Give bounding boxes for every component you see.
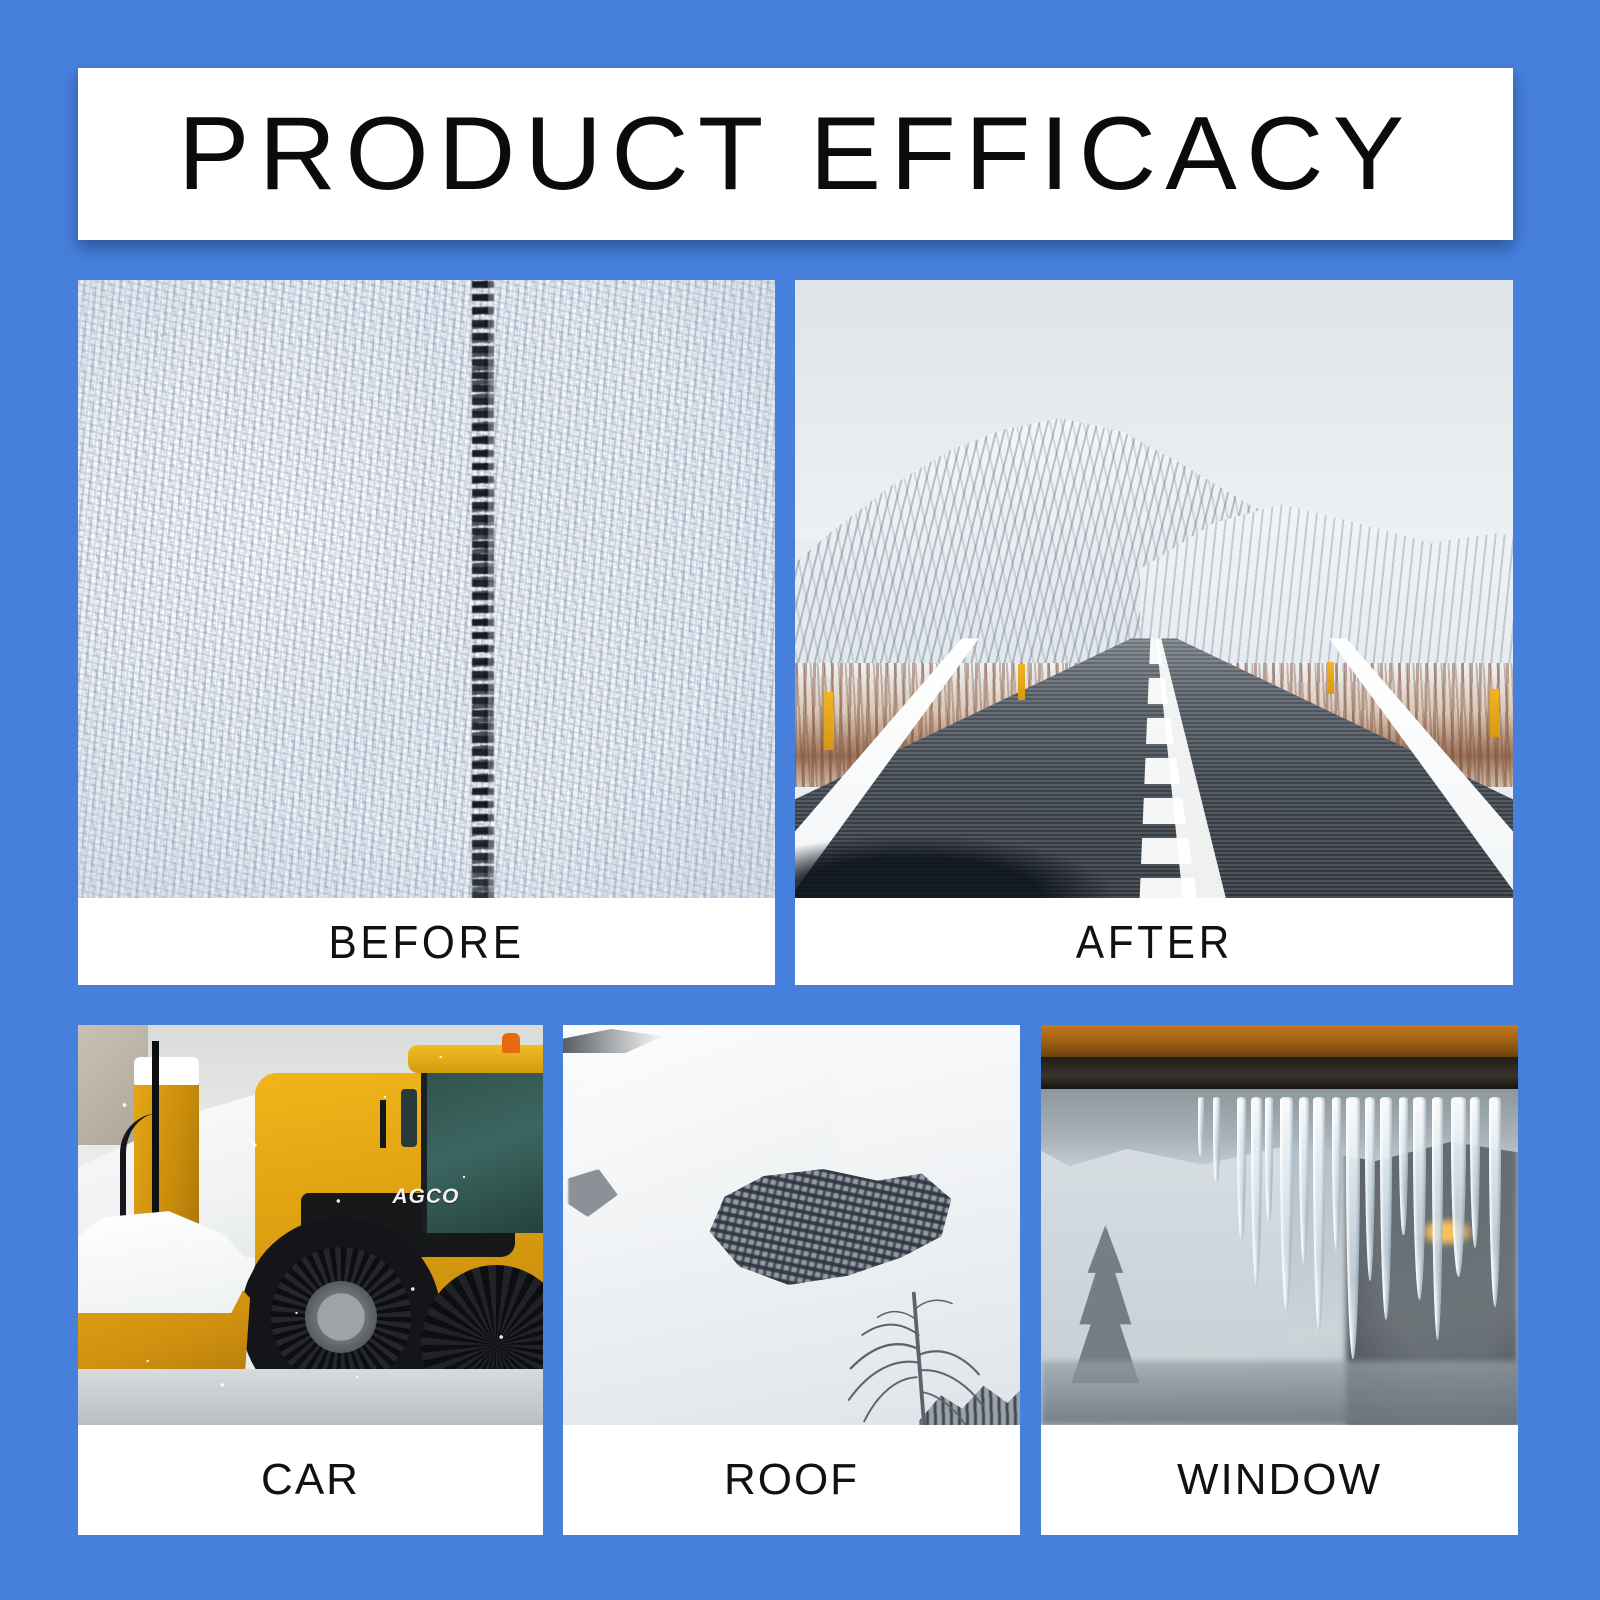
frosted-windshield-photo: Close-up of a car windshield completely … (78, 280, 775, 898)
application-card-car: AGCO Yellow AGCO tractor fitted with a s… (78, 1025, 543, 1535)
title-banner: PRODUCT EFFICACY (78, 68, 1513, 240)
window-wood-trim (1041, 1025, 1518, 1057)
foreground-shadow (795, 836, 1111, 898)
icicle-group (1041, 1097, 1518, 1425)
caption-label: CAR (261, 1458, 360, 1502)
card-caption-car: CAR (78, 1425, 543, 1535)
clear-snowy-road-photo: Clear wet asphalt road with white centre… (795, 280, 1513, 898)
yellow-marker-post (1327, 662, 1334, 694)
comparison-card-after: Clear wet asphalt road with white centre… (795, 280, 1513, 985)
card-caption-before: BEFORE (78, 898, 775, 985)
snow-plow-tractor-photo: AGCO Yellow AGCO tractor fitted with a s… (78, 1025, 543, 1425)
page-title: PRODUCT EFFICACY (178, 102, 1413, 206)
vignette-overlay (78, 280, 775, 898)
bare-branches (782, 1225, 992, 1425)
card-caption-roof: ROOF (563, 1425, 1020, 1535)
caption-label: BEFORE (328, 919, 524, 965)
tractor-brand-badge: AGCO (392, 1185, 459, 1209)
application-card-window: Long icicles hanging from the top of a w… (1041, 1025, 1518, 1535)
falling-snow-overlay (78, 1025, 543, 1425)
snow-covered-roof-photo: Deep snow on a sloping roof with a dark … (563, 1025, 1020, 1425)
icicles-on-window-photo: Long icicles hanging from the top of a w… (1041, 1025, 1518, 1425)
yellow-marker-post (1018, 664, 1025, 700)
card-caption-window: WINDOW (1041, 1425, 1518, 1535)
caption-label: AFTER (1075, 919, 1232, 965)
yellow-marker-post (824, 692, 833, 750)
window-frame-bar (1041, 1057, 1518, 1089)
card-caption-after: AFTER (795, 898, 1513, 985)
yellow-marker-post (1490, 689, 1499, 737)
application-card-roof: Deep snow on a sloping roof with a dark … (563, 1025, 1020, 1535)
poster-canvas: PRODUCT EFFICACY Close-up of a car winds… (0, 0, 1600, 1600)
caption-label: WINDOW (1177, 1458, 1382, 1502)
caption-label: ROOF (724, 1458, 859, 1502)
comparison-card-before: Close-up of a car windshield completely … (78, 280, 775, 985)
